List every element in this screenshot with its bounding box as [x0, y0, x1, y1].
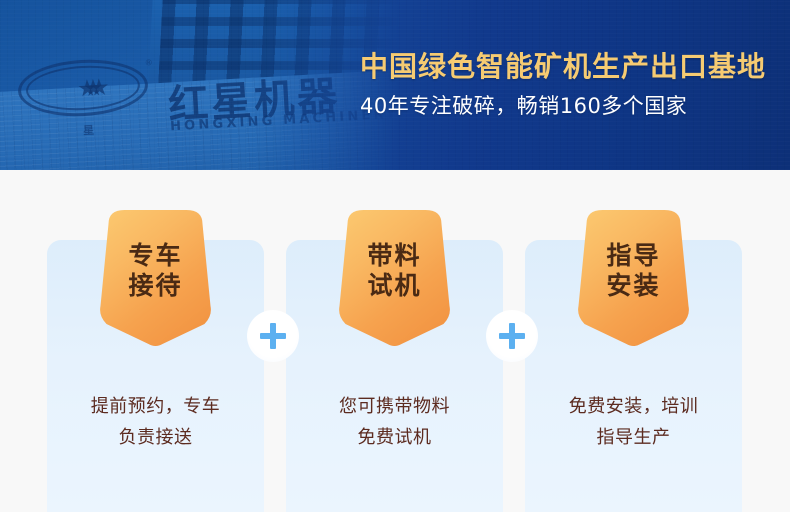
service-card[interactable]: 指导 安装 免费安装，培训 指导生产 — [525, 240, 742, 512]
hero-banner: ® 星 红星机器 HONGXING MACHINERY 中国绿色智能矿机生产出口… — [0, 0, 790, 170]
card-description: 您可携带物料 免费试机 — [286, 392, 503, 454]
card-description-line1: 您可携带物料 — [286, 392, 503, 423]
banner-subtitle: 40年专注破碎，畅销160多个国家 — [360, 95, 780, 118]
shield-badge: 专车 接待 — [95, 208, 217, 348]
shield-label-line2: 试机 — [367, 271, 421, 302]
shield-badge: 指导 安装 — [573, 208, 695, 348]
card-description: 免费安装，培训 指导生产 — [525, 392, 742, 454]
card-description-line2: 免费试机 — [286, 423, 503, 454]
shield-badge: 带料 试机 — [334, 208, 456, 348]
service-card[interactable]: 带料 试机 您可携带物料 免费试机 — [286, 240, 503, 512]
shield-label-line2: 安装 — [606, 271, 660, 302]
plus-connector — [486, 310, 538, 362]
card-description-line2: 负责接送 — [47, 423, 264, 454]
plus-icon — [499, 323, 525, 349]
service-card[interactable]: 专车 接待 提前预约，专车 负责接送 — [47, 240, 264, 512]
card-description: 提前预约，专车 负责接送 — [47, 392, 264, 454]
card-description-line2: 指导生产 — [525, 423, 742, 454]
shield-label-line1: 专车 — [128, 241, 182, 272]
service-card-list: 专车 接待 提前预约，专车 负责接送 带料 试机 您可携带物料 免费试机 指导 … — [47, 240, 743, 512]
plus-icon — [260, 323, 286, 349]
shield-label-line1: 带料 — [367, 241, 421, 272]
banner-text-block: 中国绿色智能矿机生产出口基地 40年专注破碎，畅销160多个国家 — [360, 0, 780, 170]
card-description-line1: 免费安装，培训 — [525, 392, 742, 423]
shield-label-line2: 接待 — [128, 271, 182, 302]
card-description-line1: 提前预约，专车 — [47, 392, 264, 423]
plus-connector — [247, 310, 299, 362]
promo-page: ® 星 红星机器 HONGXING MACHINERY 中国绿色智能矿机生产出口… — [0, 0, 790, 512]
banner-title: 中国绿色智能矿机生产出口基地 — [360, 52, 780, 83]
shield-label-line1: 指导 — [606, 241, 660, 272]
